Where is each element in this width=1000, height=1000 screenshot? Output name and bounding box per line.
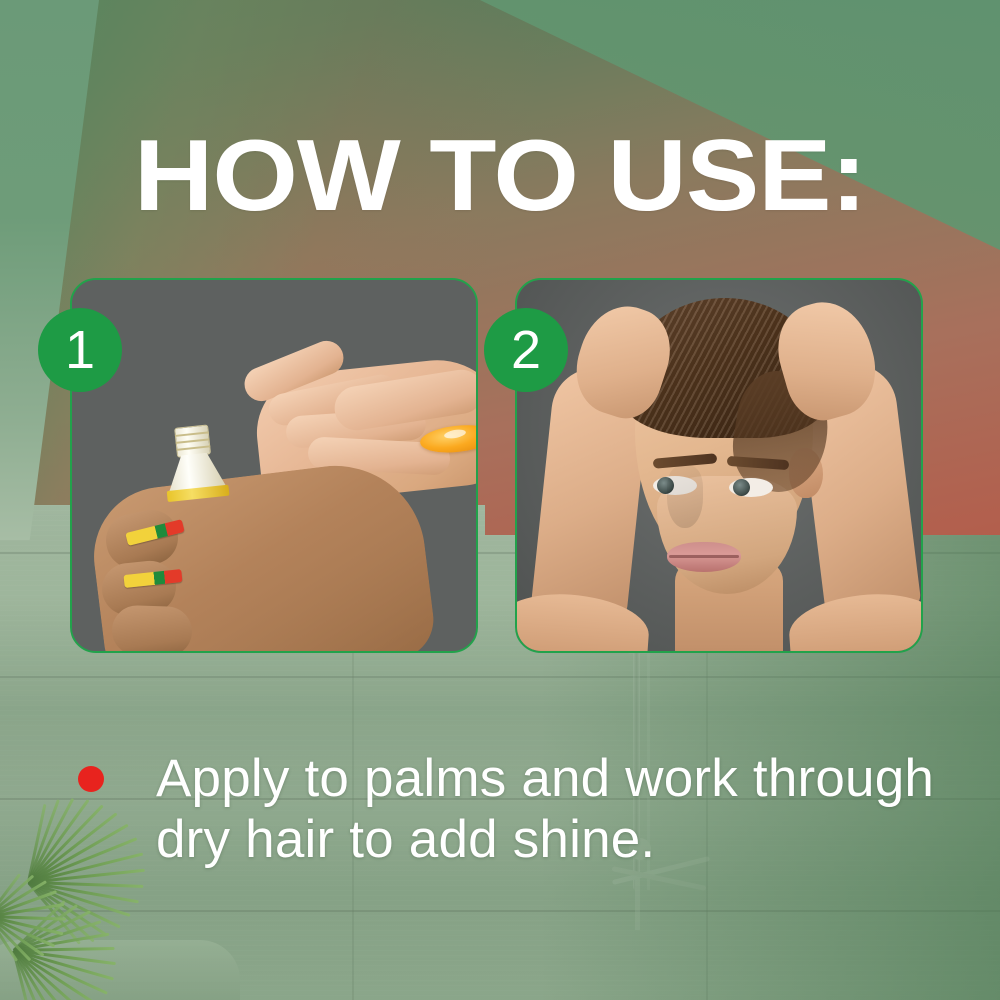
- instruction-text: Apply to palms and work through dry hair…: [156, 748, 940, 871]
- poster-canvas: HOW TO USE:: [0, 0, 1000, 1000]
- lip-line: [669, 555, 739, 558]
- oil-bottle: [160, 423, 230, 505]
- hand-dispensing-oil-photo: [72, 280, 476, 651]
- step-1-number: 1: [65, 323, 95, 377]
- page-title: HOW TO USE:: [0, 126, 1000, 227]
- instruction-row: Apply to palms and work through dry hair…: [78, 748, 940, 871]
- step-2-number: 2: [511, 323, 541, 377]
- bullet-dot-icon: [78, 766, 104, 792]
- man-applying-to-hair-photo: [517, 280, 921, 651]
- step-1-photo-panel: [70, 278, 478, 653]
- step-1-badge: 1: [38, 308, 122, 392]
- step-2-badge: 2: [484, 308, 568, 392]
- step-2-photo-panel: [515, 278, 923, 653]
- knuckle: [111, 605, 193, 653]
- nose: [667, 466, 703, 528]
- iris: [733, 479, 750, 496]
